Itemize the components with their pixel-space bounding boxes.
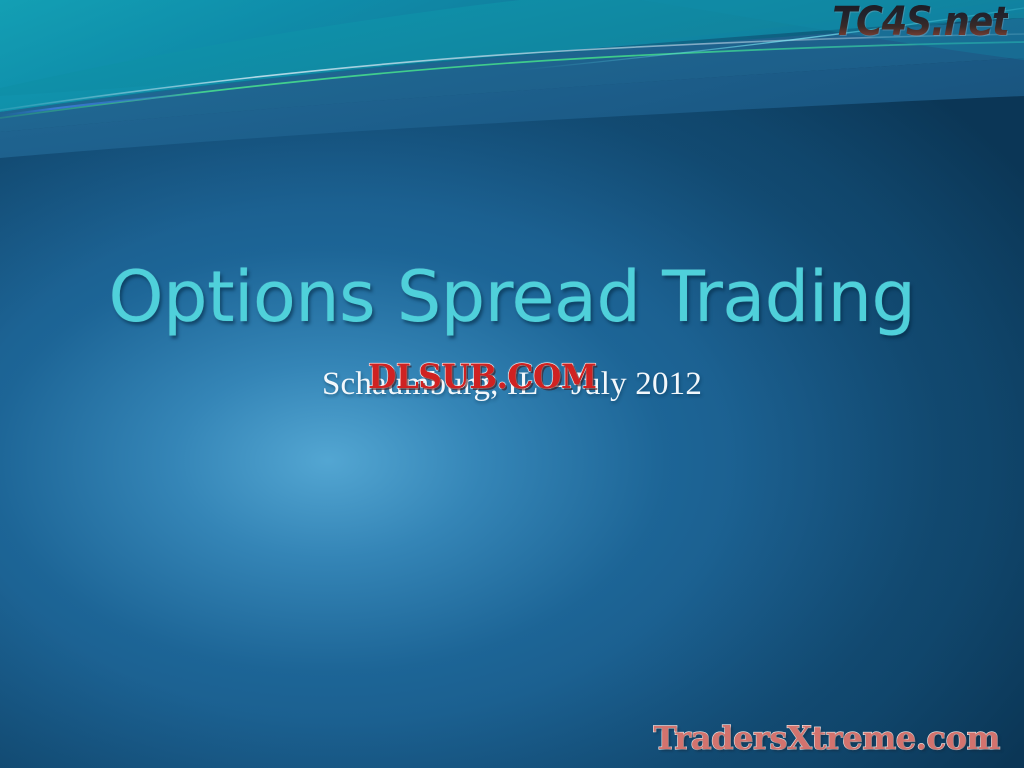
dlsub-watermark: DLSUB.COM bbox=[368, 360, 596, 394]
tradersxtreme-watermark: TradersXtreme.com bbox=[653, 722, 1000, 754]
slide-title-block: Options Spread Trading bbox=[0, 262, 1024, 333]
presentation-slide: Options Spread Trading Schaumburg, IL – … bbox=[0, 0, 1024, 768]
slide-title: Options Spread Trading bbox=[0, 262, 1024, 333]
tc4s-watermark: TC4S.net bbox=[832, 2, 1008, 42]
